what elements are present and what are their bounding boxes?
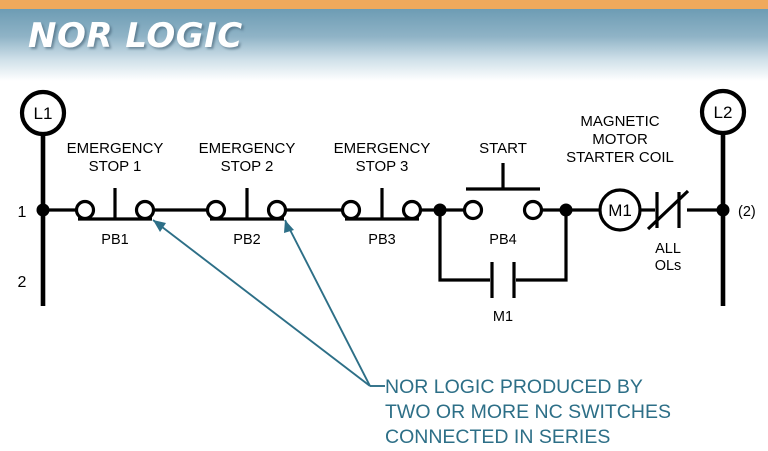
pb4-terminal-left <box>465 202 482 219</box>
pb4-terminal-right <box>525 202 542 219</box>
pb3-terminal-right <box>404 202 421 219</box>
pb2-title-line2: STOP 2 <box>221 158 274 175</box>
l1-terminal-label: L1 <box>34 104 53 123</box>
branch-wire-right <box>516 210 566 280</box>
arrow-head-to-pb2 <box>284 220 294 233</box>
pb3-label: PB3 <box>368 232 395 248</box>
m1-holding-label: M1 <box>493 309 513 325</box>
branch-wire-left <box>440 210 490 280</box>
pb2-terminal-right <box>269 202 286 219</box>
pb4-label: PB4 <box>489 232 516 248</box>
pb1-title-line1: EMERGENCY <box>67 140 164 157</box>
arrow-line-to-pb2 <box>285 220 370 386</box>
junction-dot-right-rail <box>717 204 730 217</box>
pb1-terminal-left <box>77 202 94 219</box>
right-power-rail: L2 (2) <box>702 91 756 306</box>
pb1-terminal-right <box>137 202 154 219</box>
arrow-line-to-pb1 <box>153 220 370 386</box>
right-rail-number-label: (2) <box>738 204 756 220</box>
annotation-line-1: NOR LOGIC PRODUCED BY <box>385 376 643 398</box>
pb4-title-line1: START <box>479 140 527 157</box>
device-overload-contacts[interactable]: ALL OLs <box>648 191 688 274</box>
pb3-terminal-left <box>343 202 360 219</box>
pb2-label: PB2 <box>233 232 260 248</box>
rung-number-2: 2 <box>18 274 27 291</box>
l2-terminal-label: L2 <box>714 103 733 122</box>
slide-page: NOR LOGIC L1 1 2 EMERGENCY STOP 1 <box>0 0 768 451</box>
device-pb3-emergency-stop-3[interactable]: EMERGENCY STOP 3 PB3 <box>334 140 431 248</box>
pb2-terminal-left <box>208 202 225 219</box>
device-pb4-start[interactable]: START PB4 <box>465 140 542 248</box>
pb3-title-line1: EMERGENCY <box>334 140 431 157</box>
rung-number-1: 1 <box>18 204 27 221</box>
m1-coil-title-line1: MAGNETIC <box>580 113 659 130</box>
page-title: NOR LOGIC <box>28 16 243 56</box>
annotation-line-2: TWO OR MORE NC SWITCHES <box>385 401 671 423</box>
ol-label-line2: OLs <box>655 258 682 274</box>
annotation-text-block: NOR LOGIC PRODUCED BY TWO OR MORE NC SWI… <box>385 376 671 448</box>
pb1-title-line2: STOP 1 <box>89 158 142 175</box>
ladder-diagram: L1 1 2 EMERGENCY STOP 1 PB1 <box>0 81 768 451</box>
device-pb2-emergency-stop-2[interactable]: EMERGENCY STOP 2 PB2 <box>199 140 296 248</box>
accent-top-bar <box>0 0 768 9</box>
junction-dot-left-rail <box>37 204 50 217</box>
device-pb1-emergency-stop-1[interactable]: EMERGENCY STOP 1 PB1 <box>67 140 164 248</box>
device-m1-holding-contact[interactable]: M1 <box>440 210 566 325</box>
m1-coil-label: M1 <box>608 201 632 220</box>
m1-coil-title-line2: MOTOR <box>592 131 648 148</box>
pb3-title-line2: STOP 3 <box>356 158 409 175</box>
ol-label-line1: ALL <box>655 241 681 257</box>
m1-coil-title-line3: STARTER COIL <box>566 149 674 166</box>
left-power-rail: L1 <box>22 92 64 306</box>
annotation-line-3: CONNECTED IN SERIES <box>385 426 610 448</box>
arrow-head-to-pb1 <box>153 220 166 232</box>
annotation-leader-lines <box>153 220 385 386</box>
pb1-label: PB1 <box>101 232 128 248</box>
pb2-title-line1: EMERGENCY <box>199 140 296 157</box>
